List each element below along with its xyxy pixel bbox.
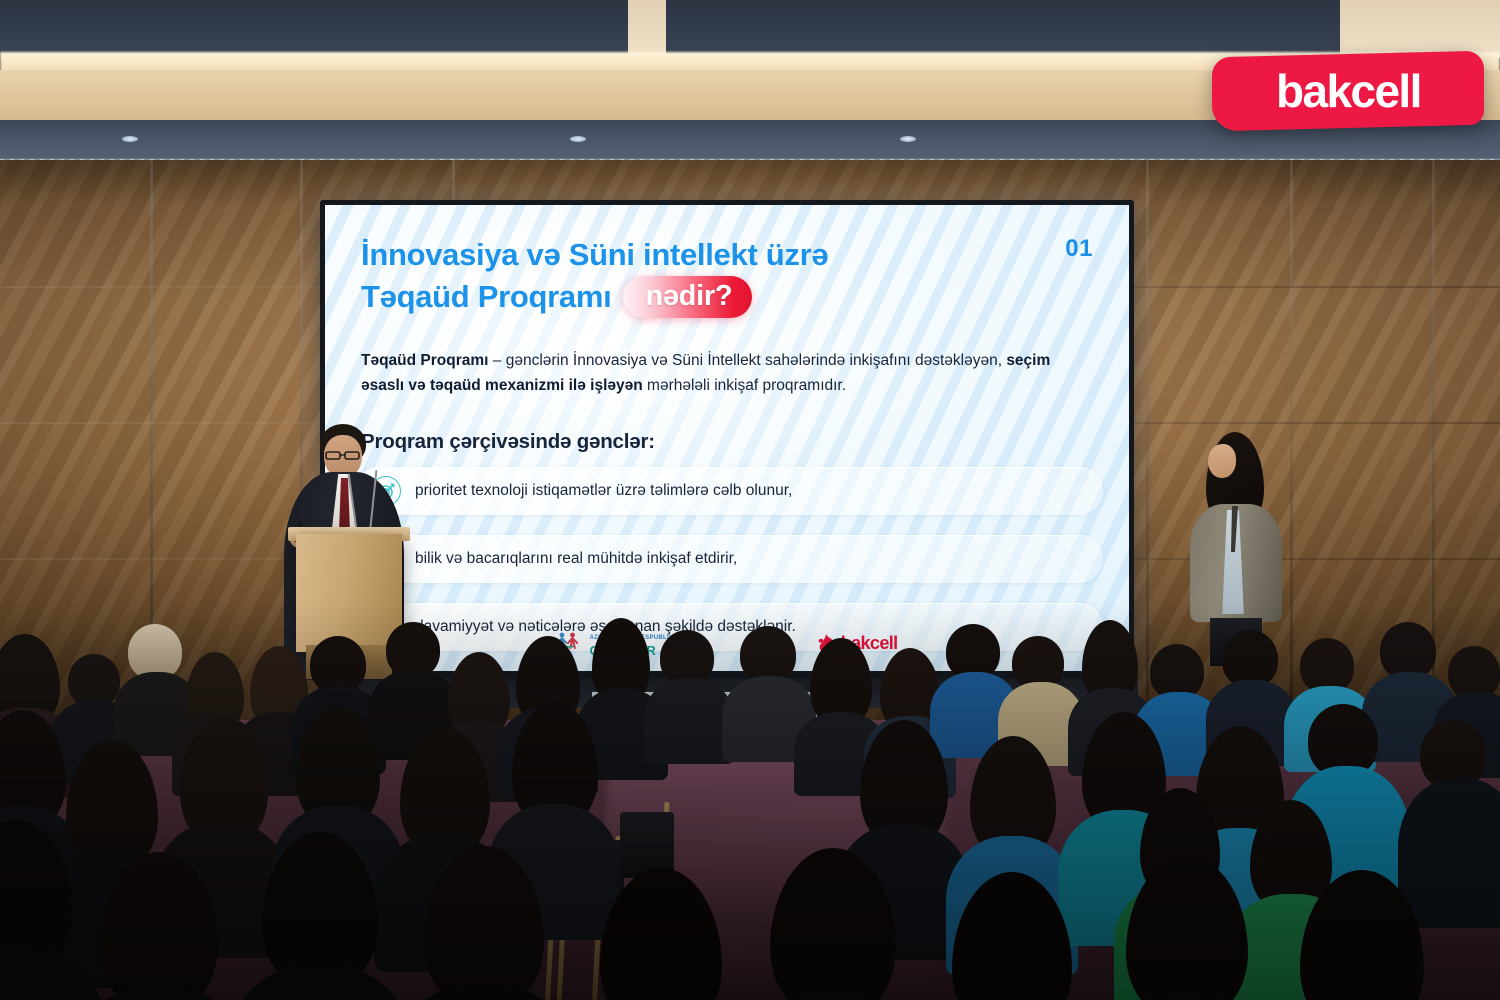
slide-title-line-2: Təqaüd Proqramı xyxy=(361,277,611,318)
slide-body-paragraph: Təqaüd Proqramı – gənclərin İnnovasiya v… xyxy=(361,348,1091,398)
bakcell-logo: bakcell xyxy=(1212,51,1484,132)
conference-photo: 01 İnnovasiya və Süni intellekt üzrə Təq… xyxy=(0,0,1500,1000)
list-item: bilik və bacarıqlarını real mühitdə inki… xyxy=(355,535,1103,583)
body-text-1: – gənclərin İnnovasiya və Süni İntellekt… xyxy=(488,352,1006,369)
body-text-2: mərhələli inkişaf proqramıdır. xyxy=(643,377,846,394)
audience xyxy=(0,600,1500,1000)
bakcell-logo-text: bakcell xyxy=(1276,68,1421,114)
slide-title-line-2-row: Təqaüd Proqramı nədir? xyxy=(361,276,961,318)
speaker-glasses-icon xyxy=(325,447,361,456)
slide-number: 01 xyxy=(1065,235,1093,263)
list-item: prioritet texnoloji istiqamətlər üzrə tə… xyxy=(355,467,1103,515)
slide-title-line-1: İnnovasiya və Süni intellekt üzrə xyxy=(361,235,961,276)
slide-title-pill: nədir? xyxy=(623,276,752,318)
body-bold-lead: Təqaüd Proqramı xyxy=(361,352,488,369)
slide-title: İnnovasiya və Süni intellekt üzrə Təqaüd… xyxy=(361,235,961,318)
presenter-face xyxy=(1208,444,1236,478)
list-item-label: bilik və bacarıqlarını real mühitdə inki… xyxy=(415,550,737,569)
list-item-label: prioritet texnoloji istiqamətlər üzrə tə… xyxy=(415,482,792,501)
